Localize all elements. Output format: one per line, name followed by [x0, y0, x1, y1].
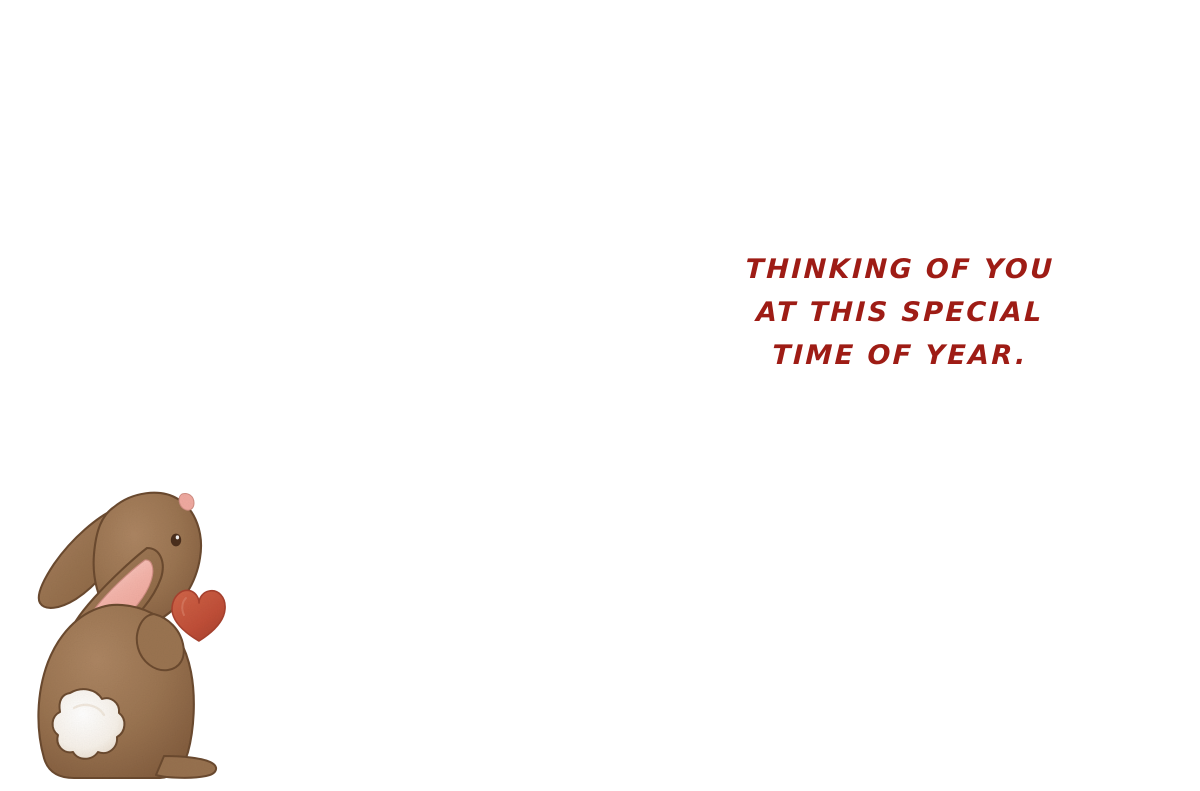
message-line-3: TIME OF YEAR. [679, 334, 1121, 377]
bunny-illustration [14, 486, 234, 786]
greeting-message: THINKING OF YOU AT THIS SPECIAL TIME OF … [680, 248, 1120, 377]
hind-foot [156, 756, 216, 778]
eye [171, 534, 181, 547]
greeting-card-inside: THINKING OF YOU AT THIS SPECIAL TIME OF … [0, 0, 1200, 791]
cotton-tail [53, 689, 125, 759]
message-line-2: AT THIS SPECIAL [679, 291, 1121, 334]
message-line-1: THINKING OF YOU [679, 248, 1121, 291]
